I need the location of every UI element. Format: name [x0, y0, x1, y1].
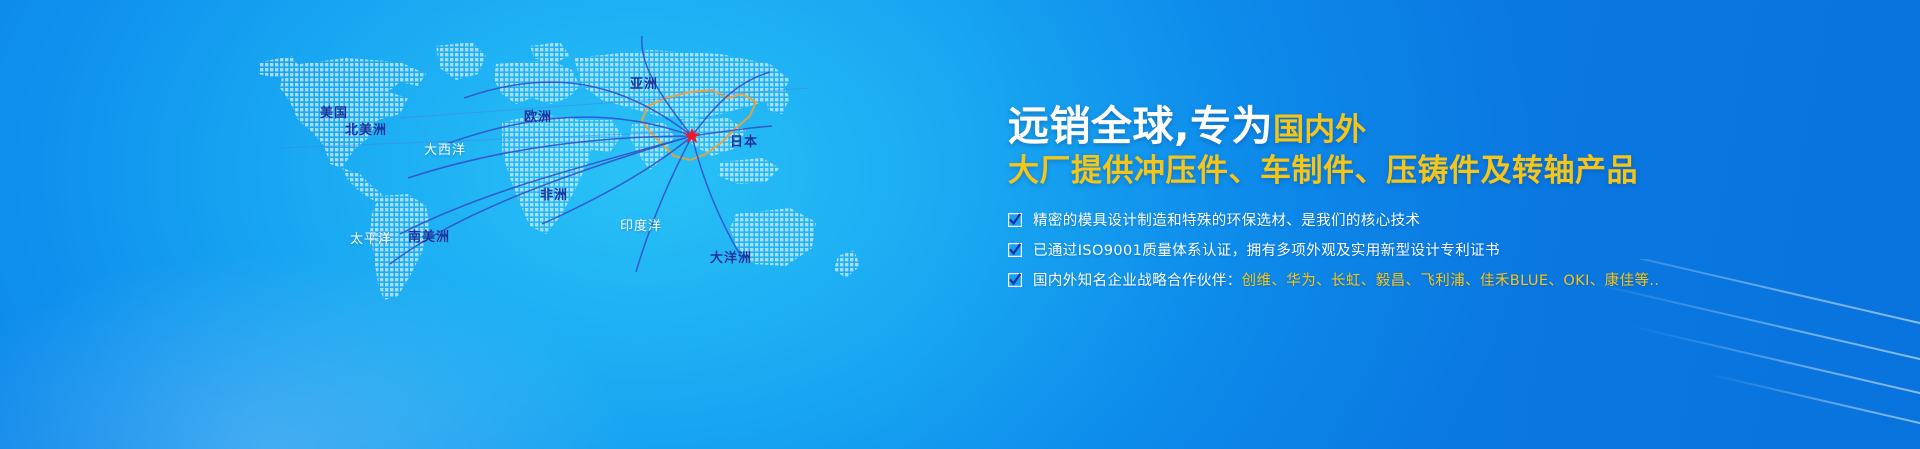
partner-brand-list: 创维、华为、长虹、毅昌、飞利浦、佳禾BLUE、OKI、康佳等.. [1242, 273, 1660, 289]
list-item: 国内外知名企业战略合作伙伴：创维、华为、长虹、毅昌、飞利浦、佳禾BLUE、OKI… [1008, 271, 1888, 292]
world-map [250, 28, 890, 328]
list-item-text: 国内外知名企业战略合作伙伴：创维、华为、长虹、毅昌、飞利浦、佳禾BLUE、OKI… [1033, 271, 1659, 292]
list-item: 精密的模具设计制造和特殊的环保选材、是我们的核心技术 [1008, 211, 1888, 232]
map-label-north-america: 北美洲 [345, 124, 387, 137]
promo-copy: 远销全球,专为国内外 大厂提供冲压件、车制件、压铸件及转轴产品 精密的模具设计制… [1008, 104, 1888, 301]
list-item-label: 国内外知名企业战略合作伙伴： [1033, 273, 1242, 289]
list-item-text: 已通过ISO9001质量体系认证，拥有多项外观及实用新型设计专利证书 [1033, 241, 1500, 262]
map-label-africa: 非洲 [540, 189, 568, 202]
map-label-europe: 欧洲 [524, 111, 552, 124]
map-label-oceania: 大洋洲 [710, 252, 752, 265]
hero-banner: 美国 北美洲 大西洋 欧洲 亚洲 日本 非洲 印度洋 太平洋 南美洲 大洋洲 远… [0, 0, 1920, 449]
check-box-icon [1008, 213, 1022, 227]
map-label-atlantic-ocean: 大西洋 [424, 144, 466, 157]
list-item: 已通过ISO9001质量体系认证，拥有多项外观及实用新型设计专利证书 [1008, 241, 1888, 262]
check-box-icon [1008, 243, 1022, 257]
map-label-indian-ocean: 印度洋 [620, 220, 662, 233]
list-item-text: 精密的模具设计制造和特殊的环保选材、是我们的核心技术 [1033, 211, 1420, 232]
headline-accent: 国内外 [1273, 112, 1366, 148]
map-label-pacific-ocean: 太平洋 [350, 233, 392, 246]
subheadline: 大厂提供冲压件、车制件、压铸件及转轴产品 [1008, 153, 1888, 190]
headline: 远销全球,专为国内外 [1008, 104, 1888, 150]
headline-main: 远销全球,专为 [1008, 102, 1273, 150]
map-label-usa: 美国 [320, 107, 348, 120]
map-label-japan: 日本 [730, 136, 758, 149]
map-label-asia: 亚洲 [630, 78, 658, 91]
check-box-icon [1008, 273, 1022, 287]
feature-bullet-list: 精密的模具设计制造和特殊的环保选材、是我们的核心技术 已通过ISO9001质量体… [1008, 211, 1888, 292]
map-label-south-america: 南美洲 [408, 231, 450, 244]
map-landmass-dots [250, 28, 890, 328]
